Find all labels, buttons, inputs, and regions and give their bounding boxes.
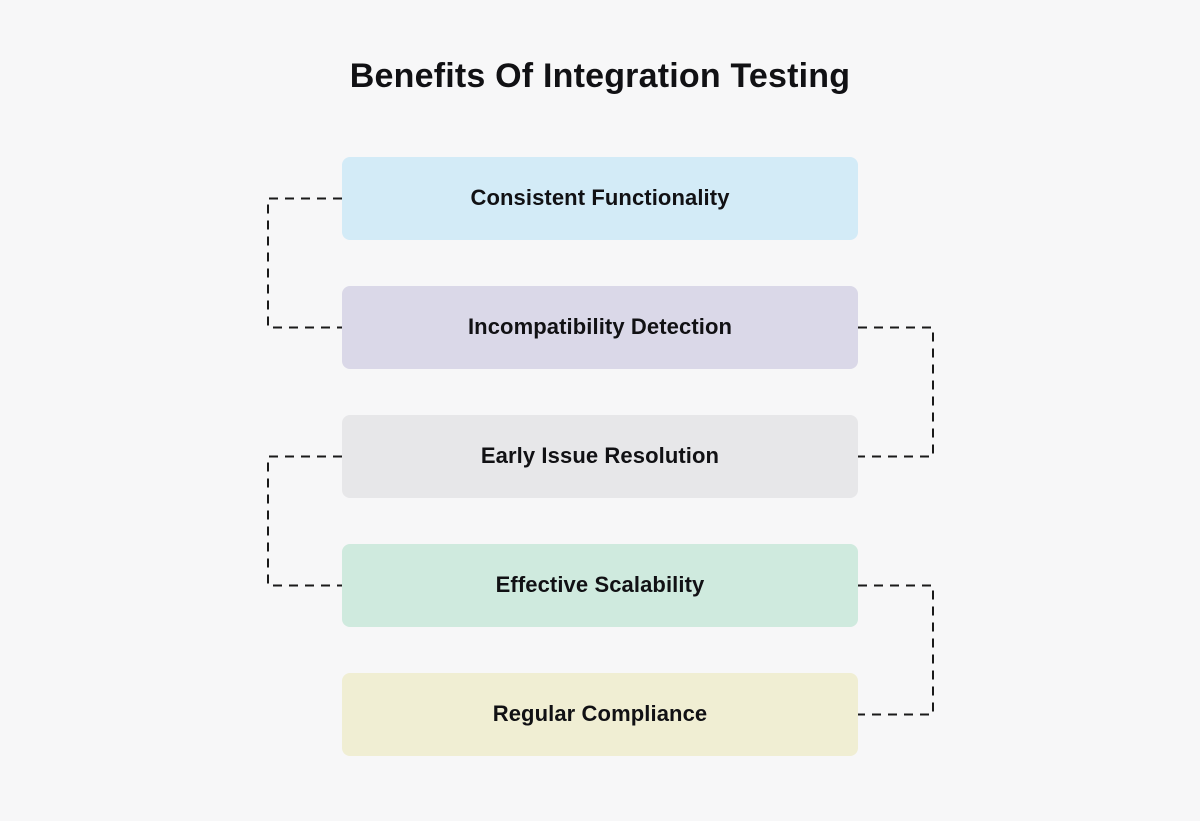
benefit-label: Consistent Functionality — [470, 185, 729, 211]
benefit-label: Regular Compliance — [493, 701, 708, 727]
diagram-canvas: Benefits Of Integration Testing Consiste… — [0, 0, 1200, 821]
connector-right-box2-box3 — [858, 328, 933, 457]
benefit-box-consistent-functionality[interactable]: Consistent Functionality — [342, 157, 858, 240]
connector-left-box3-box4 — [268, 457, 342, 586]
benefit-label: Effective Scalability — [496, 572, 705, 598]
connector-left-box1-box2 — [268, 199, 342, 328]
benefit-box-incompatibility-detection[interactable]: Incompatibility Detection — [342, 286, 858, 369]
benefit-box-regular-compliance[interactable]: Regular Compliance — [342, 673, 858, 756]
benefit-box-effective-scalability[interactable]: Effective Scalability — [342, 544, 858, 627]
benefit-label: Incompatibility Detection — [468, 314, 732, 340]
benefit-box-early-issue-resolution[interactable]: Early Issue Resolution — [342, 415, 858, 498]
benefit-label: Early Issue Resolution — [481, 443, 719, 469]
connector-right-box4-box5 — [858, 586, 933, 715]
